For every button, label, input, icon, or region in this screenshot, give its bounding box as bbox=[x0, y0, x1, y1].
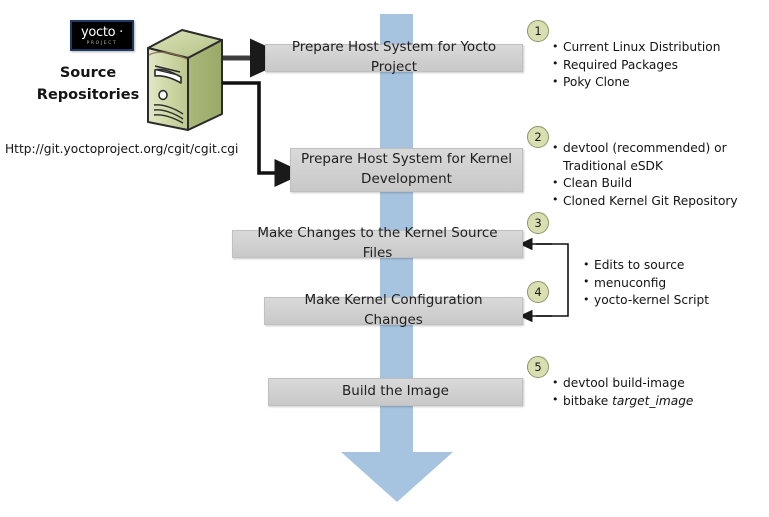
list-item: menuconfig bbox=[583, 275, 709, 293]
list-item-text: bitbake bbox=[563, 394, 612, 408]
box-2-label-line2: Development bbox=[361, 171, 452, 187]
box-1-label: Prepare Host System for Yocto Project bbox=[274, 38, 514, 77]
step-1-bullet-list: Current Linux Distribution Required Pack… bbox=[552, 39, 720, 92]
process-box-prepare-host-kernel[interactable]: Prepare Host System for Kernel Developme… bbox=[290, 148, 523, 192]
list-item: Clean Build bbox=[552, 175, 738, 193]
step-badge-3: 3 bbox=[527, 212, 549, 234]
box-2-label-line1: Prepare Host System for Kernel bbox=[301, 151, 512, 167]
steps-3-4-bullet-list: Edits to source menuconfig yocto-kernel … bbox=[583, 257, 709, 310]
box-2-label: Prepare Host System for Kernel Developme… bbox=[301, 150, 512, 189]
step-badge-4: 4 bbox=[527, 281, 549, 303]
step-badge-1: 1 bbox=[527, 20, 549, 42]
box-4-label: Make Kernel Configuration Changes bbox=[273, 291, 514, 330]
step-badge-1-number: 1 bbox=[534, 24, 541, 38]
list-item: Cloned Kernel Git Repository bbox=[552, 193, 738, 211]
step-badge-2-number: 2 bbox=[534, 130, 541, 144]
step-5-bullet-list: devtool build-image bitbake target_image bbox=[552, 375, 693, 410]
step-badge-5: 5 bbox=[527, 356, 549, 378]
list-item: devtool (recommended) or Traditional eSD… bbox=[552, 140, 738, 175]
list-item: bitbake target_image bbox=[552, 393, 693, 411]
list-item: devtool build-image bbox=[552, 375, 693, 393]
process-box-make-kernel-config-changes[interactable]: Make Kernel Configuration Changes bbox=[264, 297, 523, 325]
step-badge-2: 2 bbox=[527, 126, 549, 148]
list-item-emphasis: target_image bbox=[612, 394, 693, 408]
step-badge-5-number: 5 bbox=[534, 360, 541, 374]
diagram-canvas: yocto · PROJECT Source Repositories Http… bbox=[0, 0, 769, 517]
step-badge-4-number: 4 bbox=[534, 285, 541, 299]
box-5-label: Build the Image bbox=[342, 382, 449, 402]
list-item-continuation: Traditional eSDK bbox=[563, 158, 738, 176]
process-box-prepare-host-yocto[interactable]: Prepare Host System for Yocto Project bbox=[265, 44, 523, 72]
list-item-text: devtool (recommended) or bbox=[563, 141, 727, 155]
process-box-build-the-image[interactable]: Build the Image bbox=[268, 378, 523, 406]
step-badge-3-number: 3 bbox=[534, 216, 541, 230]
list-item: Edits to source bbox=[583, 257, 709, 275]
list-item: Current Linux Distribution bbox=[552, 39, 720, 57]
process-box-make-kernel-source-changes[interactable]: Make Changes to the Kernel Source Files bbox=[232, 230, 523, 258]
box-3-label: Make Changes to the Kernel Source Files bbox=[241, 224, 514, 263]
list-item: Required Packages bbox=[552, 57, 720, 75]
step-2-bullet-list: devtool (recommended) or Traditional eSD… bbox=[552, 140, 738, 210]
list-item: yocto-kernel Script bbox=[583, 292, 709, 310]
list-item: Poky Clone bbox=[552, 74, 720, 92]
